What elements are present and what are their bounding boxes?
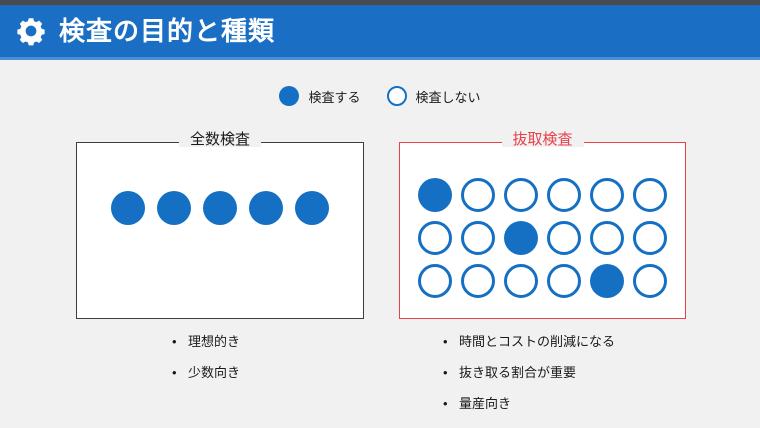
circle-open (504, 264, 538, 298)
legend-item-inspected: 検査する (279, 86, 360, 106)
circle-open (633, 221, 667, 255)
bullet-text: 量産向き (459, 397, 511, 410)
circle-grid-row (418, 264, 667, 298)
circle-open (418, 264, 452, 298)
circle-row-full-inspection (77, 191, 363, 225)
circle-filled (249, 191, 283, 225)
panel-sampling-inspection: 抜取検査 (399, 142, 686, 319)
legend-label-not-inspected: 検査しない (416, 87, 481, 106)
circle-open (547, 221, 581, 255)
list-item: • 量産向き (443, 397, 615, 410)
panel-caption-sampling-inspection: 抜取検査 (501, 132, 583, 147)
bullet-marker: • (443, 335, 459, 348)
open-circle-icon (387, 86, 407, 106)
circle-open (547, 178, 581, 212)
list-item: • 少数向き (172, 366, 240, 379)
circle-filled (295, 191, 329, 225)
circle-open (418, 221, 452, 255)
circle-open (590, 221, 624, 255)
circle-filled (418, 178, 452, 212)
bullet-text: 少数向き (188, 366, 240, 379)
bullet-marker: • (172, 366, 188, 379)
panel-caption-full-inspection: 全数検査 (179, 132, 261, 147)
circle-grid-row (418, 178, 667, 212)
circle-open (504, 178, 538, 212)
list-item: • 理想的き (172, 335, 240, 348)
bullet-text: 時間とコストの削減になる (459, 335, 615, 348)
panel-full-inspection: 全数検査 (76, 142, 364, 319)
circle-grid-sampling-inspection (400, 178, 685, 298)
circle-filled (590, 264, 624, 298)
bullet-text: 理想的き (188, 335, 240, 348)
circle-open (590, 178, 624, 212)
header-underline (0, 57, 760, 60)
bullet-marker: • (172, 335, 188, 348)
bullet-text: 抜き取る割合が重要 (459, 366, 576, 379)
circle-filled (504, 221, 538, 255)
bullet-list-full-inspection: • 理想的き • 少数向き (172, 335, 240, 397)
gear-icon (15, 15, 47, 47)
list-item: • 抜き取る割合が重要 (443, 366, 615, 379)
legend-item-not-inspected: 検査しない (387, 86, 481, 106)
circle-open (461, 178, 495, 212)
filled-circle-icon (279, 86, 299, 106)
bullet-list-sampling-inspection: • 時間とコストの削減になる • 抜き取る割合が重要 • 量産向き (443, 335, 615, 428)
list-item: • 時間とコストの削減になる (443, 335, 615, 348)
circle-open (633, 264, 667, 298)
circle-open (547, 264, 581, 298)
page-title: 検査の目的と種類 (59, 18, 275, 44)
legend-label-inspected: 検査する (308, 87, 360, 106)
circle-open (633, 178, 667, 212)
bullet-marker: • (443, 397, 459, 410)
legend: 検査する 検査しない (0, 86, 760, 106)
circle-open (461, 221, 495, 255)
circle-filled (111, 191, 145, 225)
circle-filled (203, 191, 237, 225)
circle-grid-row (418, 221, 667, 255)
circle-filled (157, 191, 191, 225)
circle-open (461, 264, 495, 298)
page-header: 検査の目的と種類 (0, 5, 760, 57)
bullet-marker: • (443, 366, 459, 379)
